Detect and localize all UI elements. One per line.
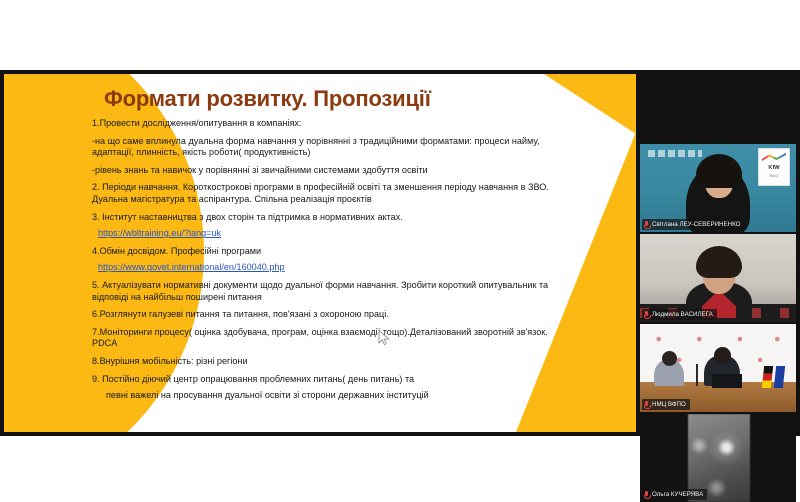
participant-tile-2[interactable]: Людмила ВАСИЛЕГА <box>640 234 796 322</box>
room-person-2-head <box>714 347 731 364</box>
microphone-muted-icon <box>644 401 649 409</box>
mouse-cursor-icon <box>378 330 390 346</box>
microphone-muted-icon <box>644 311 649 319</box>
participant-2-nameplate: Людмила ВАСИЛЕГА <box>642 309 717 320</box>
slide-title: Формати розвитку. Пропозиції <box>104 86 431 112</box>
backdrop-logo-icon <box>648 150 702 157</box>
kfw-logo-card: KfW BMZ <box>758 148 790 186</box>
participant-3-name: НМЦ ВФПО <box>652 401 686 408</box>
participant-3-nameplate: НМЦ ВФПО <box>642 399 690 410</box>
participant-tile-3[interactable]: НМЦ ВФПО <box>640 324 796 412</box>
slide-link-wbltraining[interactable]: https://wbltraining.eu/?lang=uk <box>98 228 562 240</box>
microphone-muted-icon <box>644 221 649 229</box>
participant-4-nameplate: Ольга КУЧЕРЯВА <box>642 489 707 500</box>
participant-filmstrip[interactable]: KfW BMZ Світлана ЛЕУ-СЕВЕРИНЕНКО <box>640 144 796 502</box>
bmz-logo-text: BMZ <box>759 173 789 178</box>
kfw-logo-text: KfW <box>759 165 789 171</box>
slide-body: 1.Провести дослідження/опитування в комп… <box>92 118 562 408</box>
slide-bullet-5: 3. Інститут наставництва з двох сторін т… <box>92 212 562 224</box>
slide-bullet-12: певні важелі на просування дуальної осві… <box>106 390 562 402</box>
room-person-1-head <box>662 351 677 366</box>
participant-1-name: Світлана ЛЕУ-СЕВЕРИНЕНКО <box>652 221 740 228</box>
participant-1-hair <box>696 154 742 188</box>
shared-slide[interactable]: Формати розвитку. Пропозиції 1.Провести … <box>4 74 636 432</box>
slide-bullet-7: 5. Актуалізувати нормативні документи що… <box>92 280 562 303</box>
slide-bullet-4: 2. Періоди навчання. Короткострокові про… <box>92 182 562 205</box>
participant-2-name: Людмила ВАСИЛЕГА <box>652 311 713 318</box>
participant-tile-1[interactable]: KfW BMZ Світлана ЛЕУ-СЕВЕРИНЕНКО <box>640 144 796 232</box>
meeting-stage: Формати розвитку. Пропозиції 1.Провести … <box>0 70 800 436</box>
slide-bullet-2: -на що саме вплинула дуальна форма навча… <box>92 136 562 159</box>
slide-bullet-6: 4.Обмін досвідом. Професійні програми <box>92 246 562 258</box>
slide-bullet-9: 7.Моніторинги процесу( оцінка здобувача,… <box>92 327 562 350</box>
participant-1-nameplate: Світлана ЛЕУ-СЕВЕРИНЕНКО <box>642 219 744 230</box>
laptop-icon <box>712 374 742 388</box>
slide-bullet-1: 1.Провести дослідження/опитування в комп… <box>92 118 562 130</box>
screenshot-root: Формати розвитку. Пропозиції 1.Провести … <box>0 0 800 500</box>
table-microphone-icon <box>696 364 698 386</box>
participant-4-name: Ольга КУЧЕРЯВА <box>652 491 703 498</box>
microphone-muted-icon <box>644 491 649 499</box>
slide-content: Формати розвитку. Пропозиції 1.Провести … <box>4 74 636 432</box>
slide-bullet-11: 9. Постійно діючий центр опрацювання про… <box>92 374 562 386</box>
slide-bullet-10: 8.Внурішня мобільність: різні регіони <box>92 356 562 368</box>
slide-bullet-3: -рівень знань та навичок у порівнянні зі… <box>92 165 562 177</box>
slide-link-govet[interactable]: https://www.govet.international/en/16004… <box>98 262 562 274</box>
participant-tile-4[interactable]: Ольга КУЧЕРЯВА <box>640 414 796 502</box>
slide-bullet-8: 6.Розглянути галузеві питання та питання… <box>92 309 562 321</box>
rainbow-swoosh-icon <box>762 152 786 162</box>
